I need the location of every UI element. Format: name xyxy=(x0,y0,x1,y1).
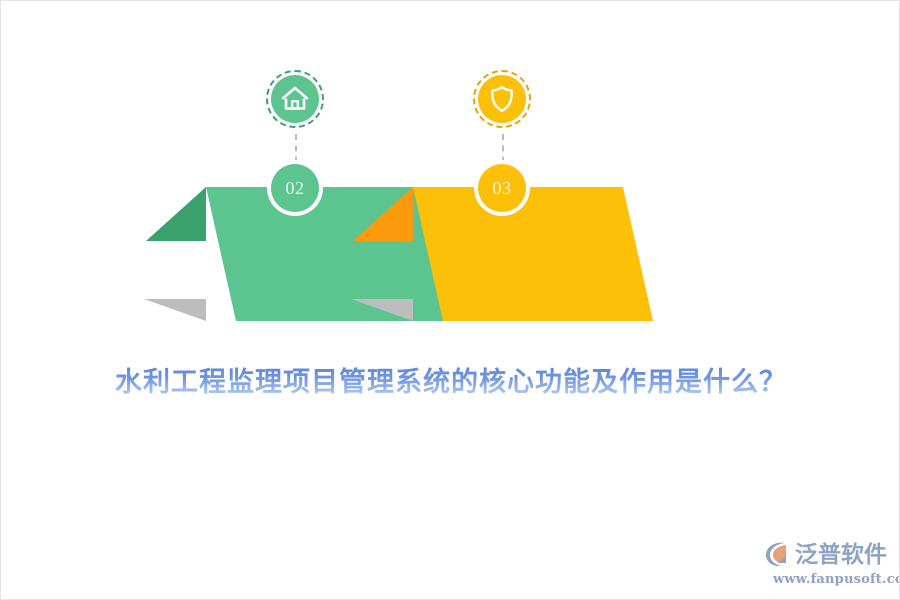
logo-url-text: www.fanpusoft.com xyxy=(773,572,893,587)
ribbon-body-03 xyxy=(413,187,653,321)
fanpu-logo-icon xyxy=(763,539,793,569)
page-title: 水利工程监理项目管理系统的核心功能及作用是什么？ xyxy=(1,367,900,399)
icon-ring-03[interactable] xyxy=(473,70,531,128)
logo-row: 泛普软件 xyxy=(763,537,893,571)
watermark-logo: 泛普软件 www.fanpusoft.com xyxy=(763,537,893,589)
badge-label-03: 03 xyxy=(493,179,512,197)
badge-number-02[interactable]: 02 xyxy=(271,164,319,212)
ribbon-tail-03 xyxy=(353,187,413,241)
infographic-node-03[interactable]: 03 xyxy=(293,1,713,331)
ribbon-shadow-03 xyxy=(351,299,413,321)
badge-number-03[interactable]: 03 xyxy=(478,164,526,212)
shield-icon xyxy=(478,75,526,123)
infographic-group: 02 03 xyxy=(1,1,900,331)
ribbon-shadow-02 xyxy=(144,299,206,321)
badge-label-02: 02 xyxy=(286,179,305,197)
screenshot-canvas: 02 03 xyxy=(0,0,900,600)
logo-brand-text: 泛普软件 xyxy=(795,543,887,566)
